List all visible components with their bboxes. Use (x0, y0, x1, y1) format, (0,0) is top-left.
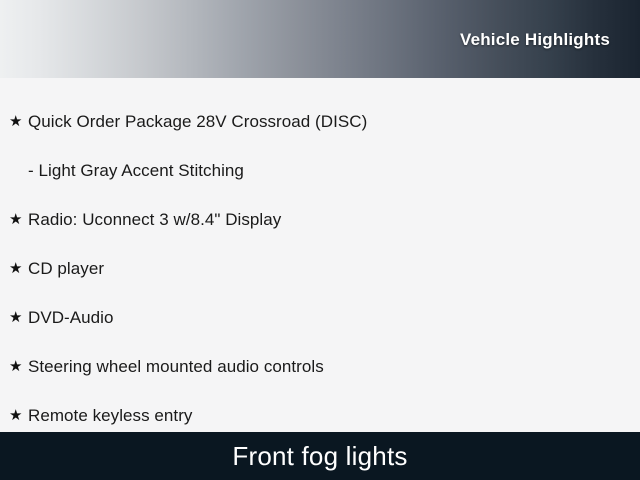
list-item: ★ Radio: Uconnect 3 w/8.4" Display (0, 195, 640, 244)
vehicle-highlights-slide: Vehicle Highlights ★ Quick Order Package… (0, 0, 640, 480)
list-item-label: Steering wheel mounted audio controls (28, 357, 324, 377)
star-bullet-icon: ★ (9, 408, 28, 423)
list-item-label: - Light Gray Accent Stitching (28, 161, 244, 181)
star-bullet-icon: ★ (9, 261, 28, 276)
list-item-label: Remote keyless entry (28, 406, 192, 426)
list-item: ★ Steering wheel mounted audio controls (0, 342, 640, 391)
list-item-label: Radio: Uconnect 3 w/8.4" Display (28, 210, 281, 230)
star-bullet-icon: ★ (9, 114, 28, 129)
list-item-label: Quick Order Package 28V Crossroad (DISC) (28, 112, 367, 132)
page-title: Vehicle Highlights (460, 31, 610, 48)
header-banner: Vehicle Highlights (0, 0, 640, 78)
highlights-list: ★ Quick Order Package 28V Crossroad (DIS… (0, 78, 640, 432)
footer-caption: Front fog lights (232, 443, 407, 469)
list-item: ★ Remote keyless entry (0, 391, 640, 432)
list-item-label: CD player (28, 259, 104, 279)
list-item: ★ CD player (0, 244, 640, 293)
list-item: - Light Gray Accent Stitching (0, 146, 640, 195)
footer-caption-bar: Front fog lights (0, 432, 640, 480)
list-item: ★ DVD-Audio (0, 293, 640, 342)
star-bullet-icon: ★ (9, 212, 28, 227)
star-bullet-icon: ★ (9, 359, 28, 374)
list-item: ★ Quick Order Package 28V Crossroad (DIS… (0, 97, 640, 146)
list-item-label: DVD-Audio (28, 308, 113, 328)
star-bullet-icon: ★ (9, 310, 28, 325)
